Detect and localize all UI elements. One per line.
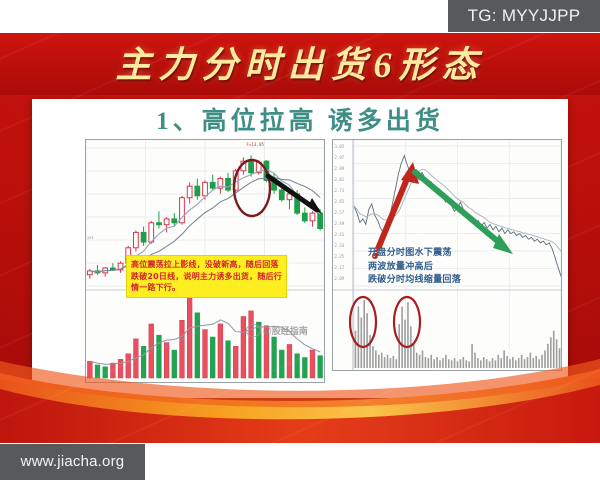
blue-note-line-2: 两波放量冲高后 [368, 261, 548, 275]
poster-background: 主力分时出货6形态 1、高位拉高 诱多出货 225 F=13.05 [0, 33, 600, 443]
telegram-watermark: TG: MYYJJPP [448, 0, 600, 32]
opening-volume-ellipse [350, 297, 376, 347]
green-down-arrow [415, 172, 513, 254]
slide-card: 1、高位拉高 诱多出货 225 F=13.05 [32, 99, 568, 398]
slide-image: TG: MYYJJPP 主力分时出货6形态 1、高位拉高 诱多出货 22 [0, 0, 600, 480]
slide-heading: 1、高位拉高 诱多出货 [32, 101, 568, 137]
red-up-arrow [375, 162, 419, 256]
black-down-arrow [268, 176, 322, 214]
blue-annotation-note: 开盘分时图水下震荡 两波放量冲高后 跌破分时均线缩量回落 [368, 247, 548, 288]
yellow-annotation-note: 高位震荡拉上影线，没破新高，随后回落跌破20日线，说明主力诱多出货，随后行情一路… [126, 255, 287, 298]
site-watermark: www.jiacha.org [0, 444, 145, 480]
weibo-logo-icon [246, 324, 261, 337]
high-volume-bearish-candle-ellipse [234, 160, 270, 216]
second-volume-ellipse [394, 297, 420, 347]
blue-note-line-3: 跌破分时均线缩量回落 [368, 274, 548, 288]
weibo-watermark: @股经指南 [246, 324, 308, 337]
blue-note-line-1: 开盘分时图水下震荡 [368, 247, 548, 261]
weibo-handle: @股经指南 [263, 324, 308, 337]
page-title: 主力分时出货6形态 [0, 36, 600, 88]
